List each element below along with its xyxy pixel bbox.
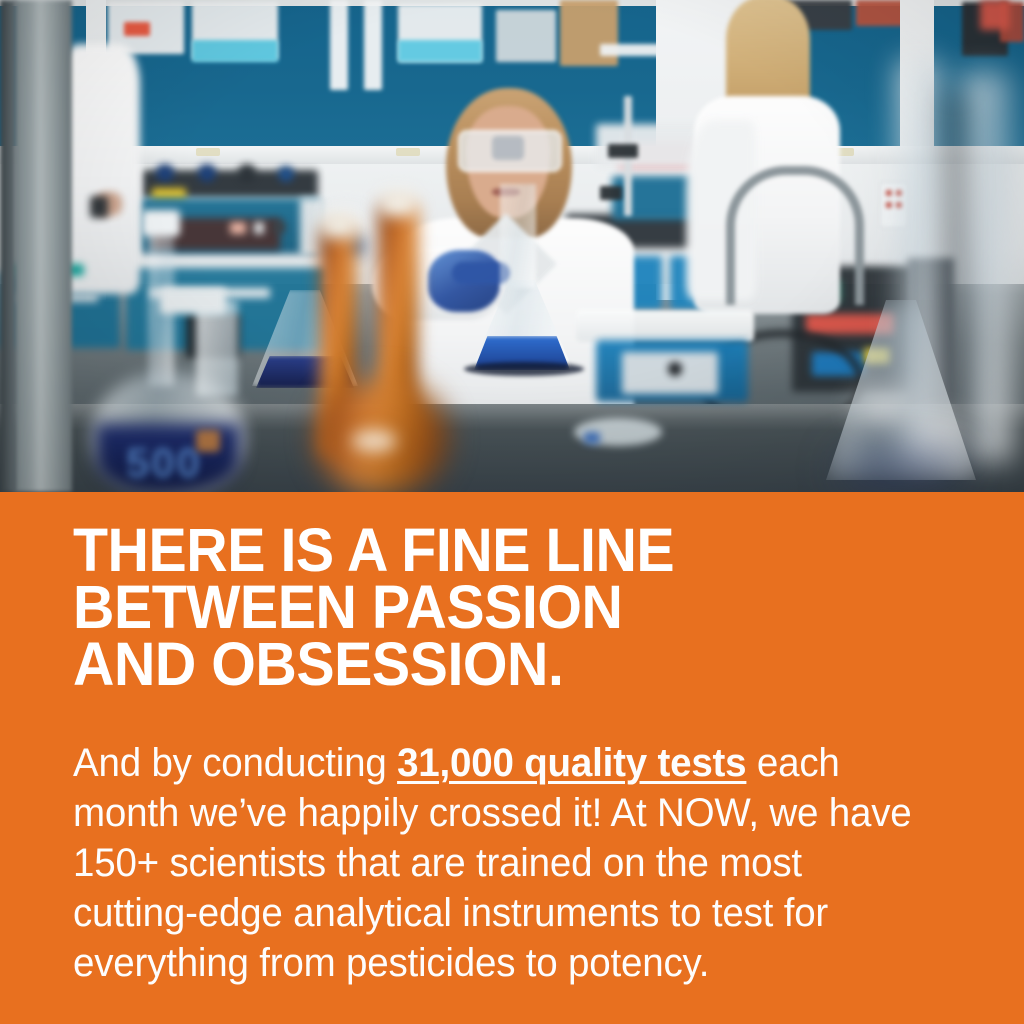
page-headline: THERE IS A FINE LINE BETWEEN PASSION AND…	[73, 522, 919, 693]
photo-vignette	[0, 0, 1024, 492]
body-segment-1: And by conducting	[73, 741, 397, 785]
poster-root: 500 THERE IS A FINE LINE BETWEEN PASSION…	[0, 0, 1024, 1024]
lab-photo: 500	[0, 0, 1024, 492]
body-copy: And by conducting 31,000 quality tests e…	[73, 738, 919, 988]
headline-line-2: BETWEEN PASSION	[73, 579, 919, 636]
highlight-quality-tests: 31,000 quality tests	[397, 741, 746, 785]
headline-line-1: THERE IS A FINE LINE	[73, 522, 919, 579]
orange-text-panel: THERE IS A FINE LINE BETWEEN PASSION AND…	[0, 492, 1024, 1024]
headline-line-3: AND OBSESSION.	[73, 636, 919, 693]
